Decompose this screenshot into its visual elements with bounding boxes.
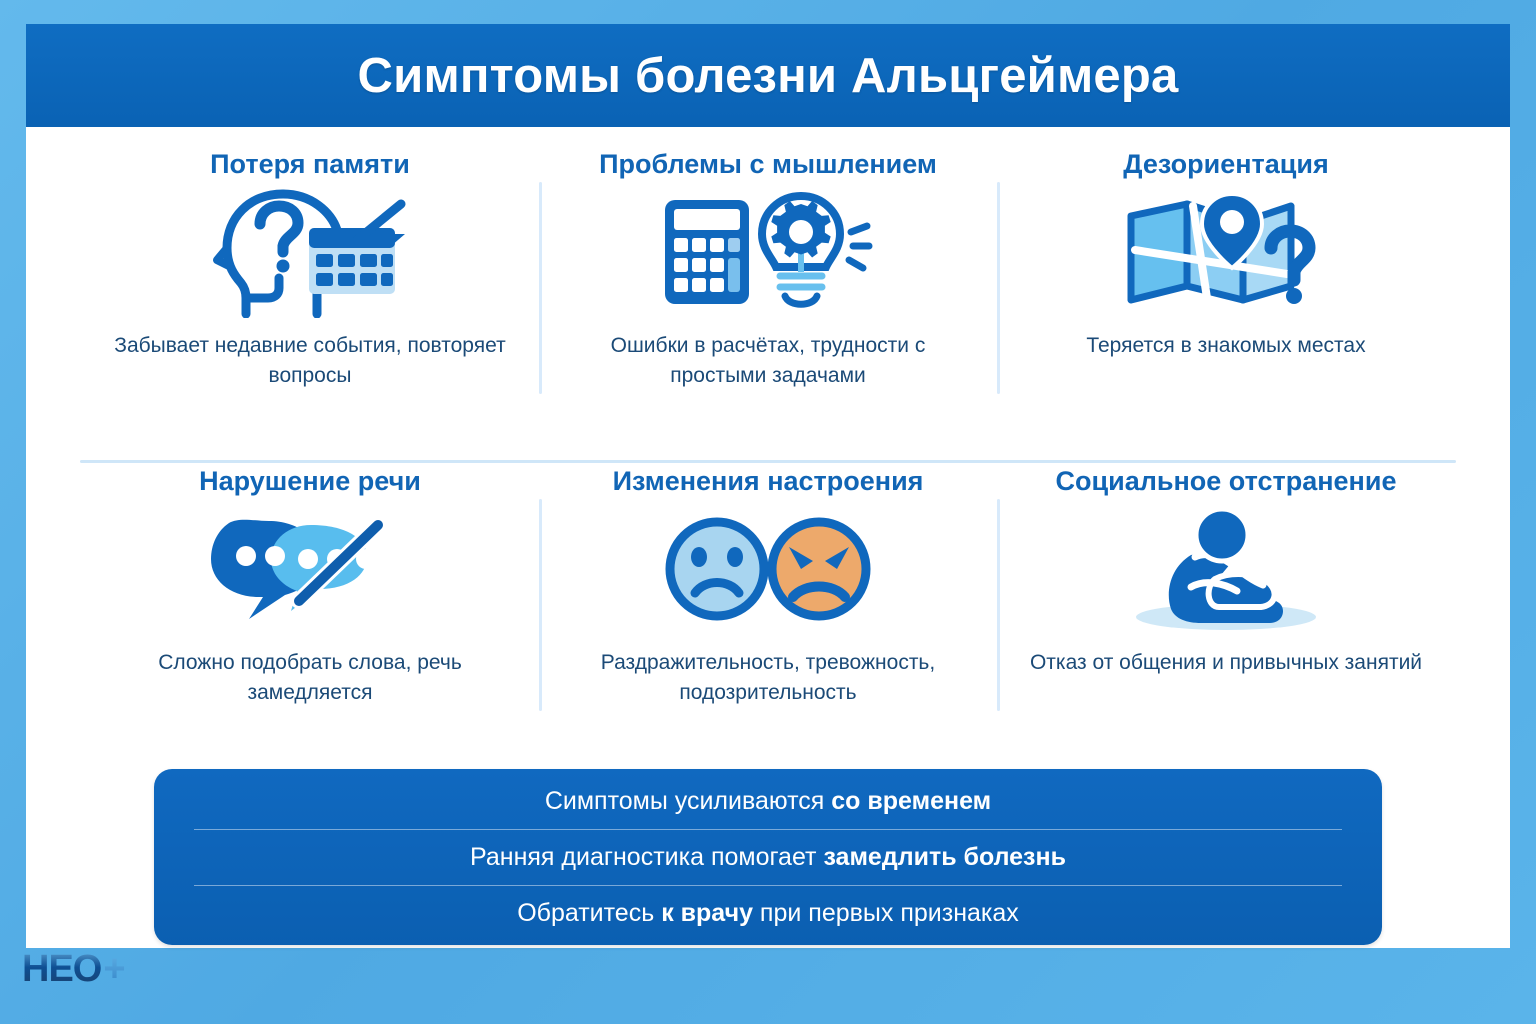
symptom-row-top: Потеря памяти	[81, 147, 1455, 447]
card-text: Сложно подобрать слова, речь замедляется	[110, 648, 510, 709]
card-text: Забывает недавние события, повторяет воп…	[110, 331, 510, 392]
card-title: Нарушение речи	[199, 466, 421, 497]
key-message-line: Ранняя диагностика помогает замедлить бо…	[154, 830, 1382, 885]
card-title: Потеря памяти	[210, 149, 410, 180]
symptom-card-memory-loss: Потеря памяти	[81, 147, 539, 447]
key-message-bold: замедлить болезнь	[823, 843, 1066, 871]
symptom-card-disorientation: Дезориентация	[997, 147, 1455, 447]
logo-text: НЕО	[22, 948, 101, 991]
calculator-lightbulb-gear-icon	[661, 184, 876, 319]
symptom-card-mood-changes: Изменения настроения	[539, 464, 997, 764]
key-message-prefix: Обратитесь	[517, 899, 661, 927]
card-title: Социальное отстранение	[1056, 466, 1397, 497]
key-message-suffix: при первых признаках	[753, 899, 1019, 927]
key-message-bold: к врачу	[661, 899, 753, 927]
card-text: Раздражительность, тревожность, подозрит…	[568, 648, 968, 709]
poster-header: Симптомы болезни Альцгеймера	[26, 24, 1510, 127]
horizontal-divider	[80, 460, 1456, 463]
key-message-line: Обратитесь к врачу при первых признаках	[154, 886, 1382, 941]
card-title: Проблемы с мышлением	[599, 149, 937, 180]
brand-logo: НЕО+	[22, 948, 125, 991]
key-message-line: Симптомы усиливаются со временем	[154, 774, 1382, 829]
speech-bubbles-slash-icon	[203, 501, 418, 636]
page-title: Симптомы болезни Альцгеймера	[358, 48, 1179, 104]
card-text: Ошибки в расчётах, трудности с простыми …	[568, 331, 968, 392]
key-message-prefix: Симптомы усиливаются	[545, 787, 831, 815]
symptom-card-speech-impairment: Нарушение речи	[81, 464, 539, 764]
symptom-card-thinking-problems: Проблемы с мышлением	[539, 147, 997, 447]
logo-plus-icon: +	[103, 948, 124, 991]
symptoms-grid: Потеря памяти	[26, 127, 1510, 767]
head-question-calendar-icon	[205, 184, 415, 319]
poster-frame: Симптомы болезни Альцгеймера Потеря памя…	[26, 24, 1510, 948]
sad-angry-faces-icon	[661, 501, 876, 636]
symptom-card-social-withdrawal: Социальное отстранение	[997, 464, 1455, 764]
key-messages-panel: Симптомы усиливаются со временем Ранняя …	[154, 769, 1382, 945]
sitting-person-icon	[1119, 501, 1334, 636]
card-text: Теряется в знакомых местах	[1086, 331, 1365, 361]
key-message-prefix: Ранняя диагностика помогает	[470, 843, 823, 871]
card-title: Дезориентация	[1123, 149, 1328, 180]
map-pin-question-icon	[1119, 184, 1334, 319]
symptom-row-bottom: Нарушение речи	[81, 464, 1455, 764]
key-message-bold: со временем	[831, 787, 991, 815]
card-title: Изменения настроения	[613, 466, 924, 497]
card-text: Отказ от общения и привычных занятий	[1030, 648, 1422, 678]
